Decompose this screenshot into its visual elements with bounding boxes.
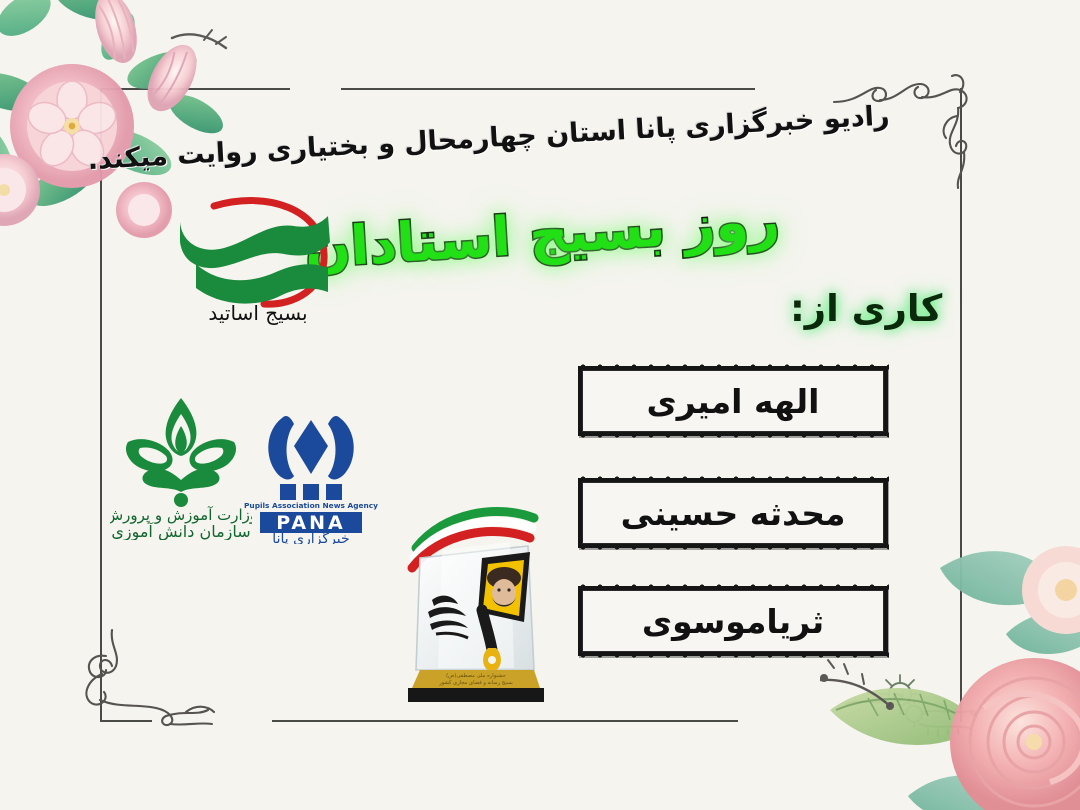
basij-asatid-logo-icon: بسیج اساتید <box>172 192 344 334</box>
headline-text: رادیو خبرگزاری پانا استان چهارمحال و بخت… <box>149 84 891 189</box>
credits-label: کاری از: <box>790 282 960 336</box>
svg-text:بسیج رسانه و فضای مجازی کشور: بسیج رسانه و فضای مجازی کشور <box>438 680 513 686</box>
frame-line-right <box>960 88 962 722</box>
ornate-flourish-icon-bottom-left <box>66 612 226 752</box>
credit-name-box: محدثه حسینی <box>578 478 888 548</box>
poster-canvas: رادیو خبرگزاری پانا استان چهارمحال و بخت… <box>0 0 1080 810</box>
frame-line-top-right-segment <box>341 88 755 90</box>
ministry-of-education-logo-icon: وزارت آموزش و پرورش سازمان دانش آموزی <box>110 392 252 540</box>
pana-logo-caption: خبرگزاری پانا <box>272 530 349 544</box>
credit-name-label: الهه امیری <box>647 382 820 421</box>
credit-name-box: الهه امیری <box>578 366 888 436</box>
svg-text:جشنواره ملی مصطفی(ص): جشنواره ملی مصطفی(ص) <box>446 673 506 679</box>
award-trophy-logo-icon: جشنواره ملی مصطفی(ص) بسیج رسانه و فضای م… <box>382 492 560 710</box>
pana-logo-tagline: Pupils Association News Agency <box>244 501 378 510</box>
basij-logo-caption: بسیج اساتید <box>208 301 307 325</box>
credit-name-label: محدثه حسینی <box>621 494 846 533</box>
frame-line-top-left-segment <box>100 88 290 90</box>
frame-line-bottom-left-segment <box>100 720 152 722</box>
page-title: روز بسیج استادان <box>328 174 783 293</box>
pana-news-agency-logo-icon: Pupils Association News Agency PANA خبرگ… <box>242 404 380 544</box>
watercolor-rose-leaves-icon-bottom-right <box>820 528 1080 810</box>
credit-name-box: ثریاموسوی <box>578 586 888 656</box>
credit-name-label: ثریاموسوی <box>642 602 824 641</box>
ministry-logo-caption-line2: سازمان دانش آموزی <box>111 522 250 540</box>
frame-line-bottom-right-segment <box>272 720 737 722</box>
